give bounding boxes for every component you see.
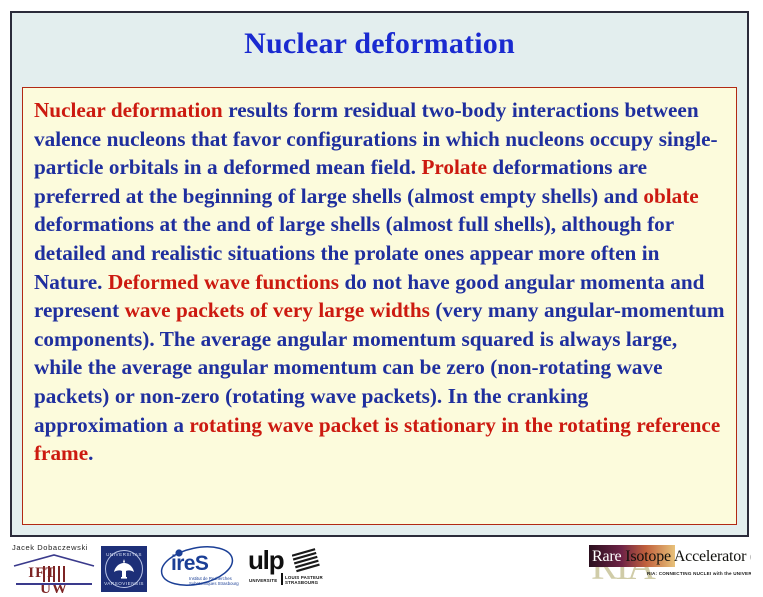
ria-logo: RIA Rare Isotope Accelerator (RIA) RIA: …	[589, 545, 751, 589]
ulp-line2-text: LOUIS PASTEUR STRASBOURG	[285, 575, 323, 585]
ria-title-part1: Rare	[592, 548, 621, 565]
ria-title: Rare Isotope Accelerator (RIA)	[592, 547, 751, 566]
ulp-logo: ulp UNIVERSITE LOUIS PASTEUR STRASBOURG	[248, 545, 348, 591]
slide-body-panel: Nuclear deformation results form residua…	[22, 87, 737, 525]
warsaw-university-seal-logo: UNIVERSITAS VARSOVIENSIS	[101, 546, 147, 592]
slide-frame: Nuclear deformation Nuclear deformation …	[10, 11, 749, 537]
ulp-divider	[281, 573, 283, 585]
ulp-wordmark: ulp	[248, 547, 283, 573]
iftuw-logo: Jacek Dobaczewski IFT UW	[12, 543, 96, 591]
body-run-6: Deformed wave functions	[108, 270, 339, 294]
body-run-4: oblate	[643, 184, 698, 208]
seal-top-text: UNIVERSITAS	[101, 552, 147, 557]
ires-subtitle: Institut de Recherches Subatomiques Stra…	[189, 576, 241, 586]
eagle-icon	[112, 558, 136, 580]
page-title: Nuclear deformation	[244, 29, 515, 59]
body-run-8: wave packets of very large widths	[125, 298, 430, 322]
ria-subtitle: RIA: CONNECTING NUCLEI with the UNIVERSE	[647, 571, 751, 576]
slide-title-bar: Nuclear deformation	[12, 13, 747, 75]
ulp-line1: UNIVERSITE	[249, 578, 277, 583]
body-run-2: Prolate	[421, 155, 487, 179]
building-base-icon	[16, 583, 92, 585]
author-name: Jacek Dobaczewski	[12, 543, 96, 552]
columns-icon	[43, 566, 65, 582]
iftuw-mark: IFT UW	[12, 553, 96, 591]
ulp-line2: LOUIS PASTEUR STRASBOURG	[285, 575, 348, 586]
ires-logo: ireS Institut de Recherches Subatomiques…	[157, 542, 241, 594]
striped-flag-icon	[292, 548, 320, 574]
body-run-0: Nuclear deformation	[34, 98, 223, 122]
ria-title-part2: Isotope Accelerator (RIA)	[621, 548, 751, 565]
slide-footer: Jacek Dobaczewski IFT UW UNIVERSITAS VAR	[0, 539, 763, 597]
slide-body-text: Nuclear deformation results form residua…	[34, 96, 725, 468]
body-run-11: .	[88, 441, 93, 465]
seal-bottom-text: VARSOVIENSIS	[101, 581, 147, 586]
ires-wordmark: ireS	[171, 553, 208, 574]
